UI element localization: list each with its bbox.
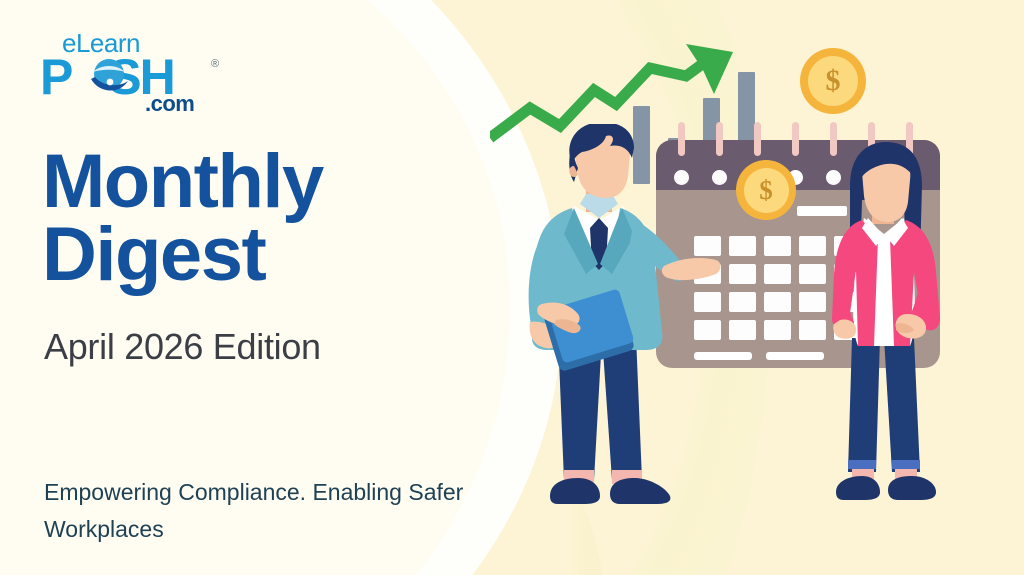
headline-line-2: Digest	[42, 219, 512, 292]
registered-trademark-icon: ®	[211, 58, 219, 70]
logo-com-text: .com	[145, 91, 194, 117]
calendar-cell	[764, 264, 791, 284]
calendar-ring-3	[754, 122, 761, 156]
calendar-cell	[729, 264, 756, 284]
calendar-cell	[729, 236, 756, 256]
page-title: Monthly Digest	[42, 146, 512, 292]
edition-subtitle: April 2026 Edition	[44, 326, 321, 368]
posh-swoosh-icon	[89, 57, 129, 97]
calendar-cell	[764, 320, 791, 340]
calendar-cell	[729, 292, 756, 312]
calendar-cell	[764, 292, 791, 312]
dollar-coin-small: $	[736, 160, 796, 220]
female-professional	[822, 142, 948, 510]
hero-illustration: $ $	[470, 0, 1024, 575]
tagline-text: Empowering Compliance. Enabling Safer Wo…	[44, 474, 474, 549]
calendar-footer-bar-2	[766, 352, 824, 360]
dollar-sign-icon: $	[826, 64, 841, 98]
logo-posh-p: P	[40, 49, 71, 105]
male-presenter	[494, 124, 724, 516]
calendar-cell	[764, 236, 791, 256]
calendar-cell	[729, 320, 756, 340]
elearnposh-logo[interactable]: eLearn POSH .com ®	[40, 28, 240, 108]
monthly-digest-banner: eLearn POSH .com ® Monthly Digest April …	[0, 0, 1024, 575]
dollar-coin-large: $	[800, 48, 866, 114]
dollar-sign-icon: $	[759, 175, 773, 206]
calendar-ring-4	[792, 122, 799, 156]
